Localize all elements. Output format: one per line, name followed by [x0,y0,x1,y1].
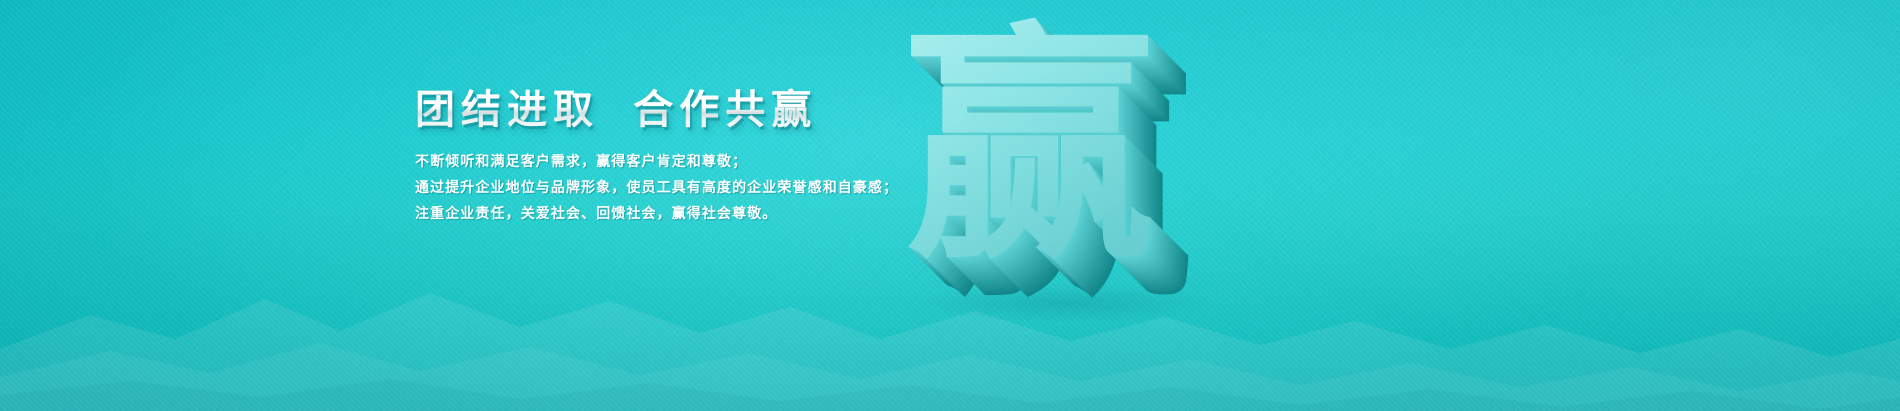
banner-subtitle-line-2: 通过提升企业地位与品牌形象，使员工具有高度的企业荣誉感和自豪感； [415,174,1035,200]
banner-copy-block: 团结进取 合作共赢 不断倾听和满足客户需求，赢得客户肯定和尊敬； 通过提升企业地… [415,86,1035,226]
banner-subtitle-list: 不断倾听和满足客户需求，赢得客户肯定和尊敬； 通过提升企业地位与品牌形象，使员工… [415,148,1035,226]
hero-banner: 团结进取 合作共赢 不断倾听和满足客户需求，赢得客户肯定和尊敬； 通过提升企业地… [0,0,1900,411]
banner-headline: 团结进取 合作共赢 [415,86,1035,134]
banner-subtitle-line-3: 注重企业责任，关爱社会、回馈社会，赢得社会尊敬。 [415,200,1035,226]
banner-subtitle-line-1: 不断倾听和满足客户需求，赢得客户肯定和尊敬； [415,148,1035,174]
sculpture-ground-shadow [915,283,1215,323]
